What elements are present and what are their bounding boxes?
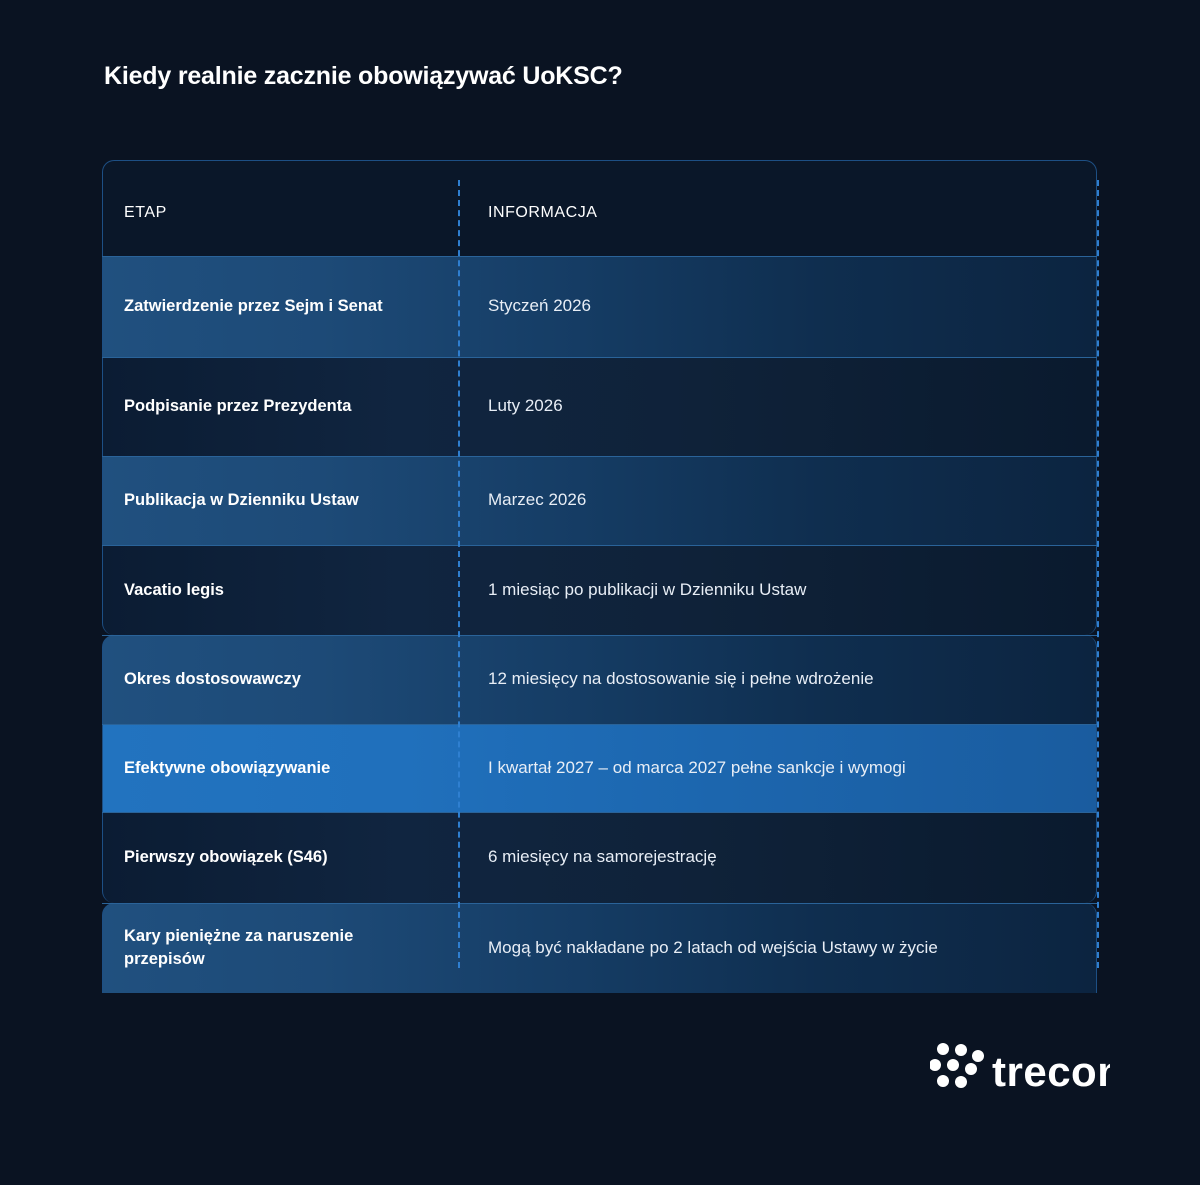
column-header-stage: ETAP xyxy=(103,202,459,256)
table-row: Zatwierdzenie przez Sejm i SenatStyczeń … xyxy=(102,256,1097,357)
cell-info: Marzec 2026 xyxy=(459,489,1096,512)
cell-stage: Pierwszy obowiązek (S46) xyxy=(103,846,459,869)
cell-stage: Efektywne obowiązywanie xyxy=(103,757,459,780)
brand-wordmark: trecom xyxy=(992,1048,1110,1095)
table-right-edge-dashed xyxy=(1097,180,1099,968)
header-separator xyxy=(102,256,1097,257)
cell-stage: Kary pieniężne za naruszenie przepisów xyxy=(103,925,459,971)
cell-stage: Zatwierdzenie przez Sejm i Senat xyxy=(103,295,459,318)
cell-info: Mogą być nakładane po 2 latach od wejści… xyxy=(459,937,1096,960)
row-separator xyxy=(102,635,1097,636)
row-separator xyxy=(102,724,1097,725)
table-row: Publikacja w Dzienniku UstawMarzec 2026 xyxy=(102,456,1097,545)
cell-stage: Podpisanie przez Prezydenta xyxy=(103,395,459,418)
row-separator xyxy=(102,456,1097,457)
table-header-row: ETAP INFORMACJA xyxy=(102,160,1097,256)
cell-info: 6 miesięcy na samorejestrację xyxy=(459,846,1096,869)
row-separator xyxy=(102,545,1097,546)
page-title: Kiedy realnie zacznie obowiązywać UoKSC? xyxy=(104,62,623,91)
cell-stage: Vacatio legis xyxy=(103,579,459,602)
dots-grid-icon xyxy=(930,1043,984,1088)
schedule-table: ETAP INFORMACJA Zatwierdzenie przez Sejm… xyxy=(102,160,1098,976)
trecom-logo: trecom xyxy=(930,1040,1110,1102)
table-row: Kary pieniężne za naruszenie przepisówMo… xyxy=(102,903,1097,993)
cell-stage: Okres dostosowawczy xyxy=(103,668,459,691)
cell-info: Styczeń 2026 xyxy=(459,295,1096,318)
row-separator xyxy=(102,903,1097,904)
cell-stage: Publikacja w Dzienniku Ustaw xyxy=(103,489,459,512)
cell-info: I kwartał 2027 – od marca 2027 pełne san… xyxy=(459,757,1096,780)
row-separator xyxy=(102,357,1097,358)
cell-info: Luty 2026 xyxy=(459,395,1096,418)
column-header-info: INFORMACJA xyxy=(459,202,1096,256)
table-row: Efektywne obowiązywanieI kwartał 2027 – … xyxy=(102,724,1097,812)
table-row: Pierwszy obowiązek (S46)6 miesięcy na sa… xyxy=(102,812,1097,903)
cell-info: 12 miesięcy na dostosowanie się i pełne … xyxy=(459,668,1096,691)
cell-info: 1 miesiąc po publikacji w Dzienniku Usta… xyxy=(459,579,1096,602)
row-separator xyxy=(102,812,1097,813)
table-row: Okres dostosowawczy12 miesięcy na dostos… xyxy=(102,635,1097,724)
table-row: Vacatio legis1 miesiąc po publikacji w D… xyxy=(102,545,1097,635)
table-row: Podpisanie przez PrezydentaLuty 2026 xyxy=(102,357,1097,456)
